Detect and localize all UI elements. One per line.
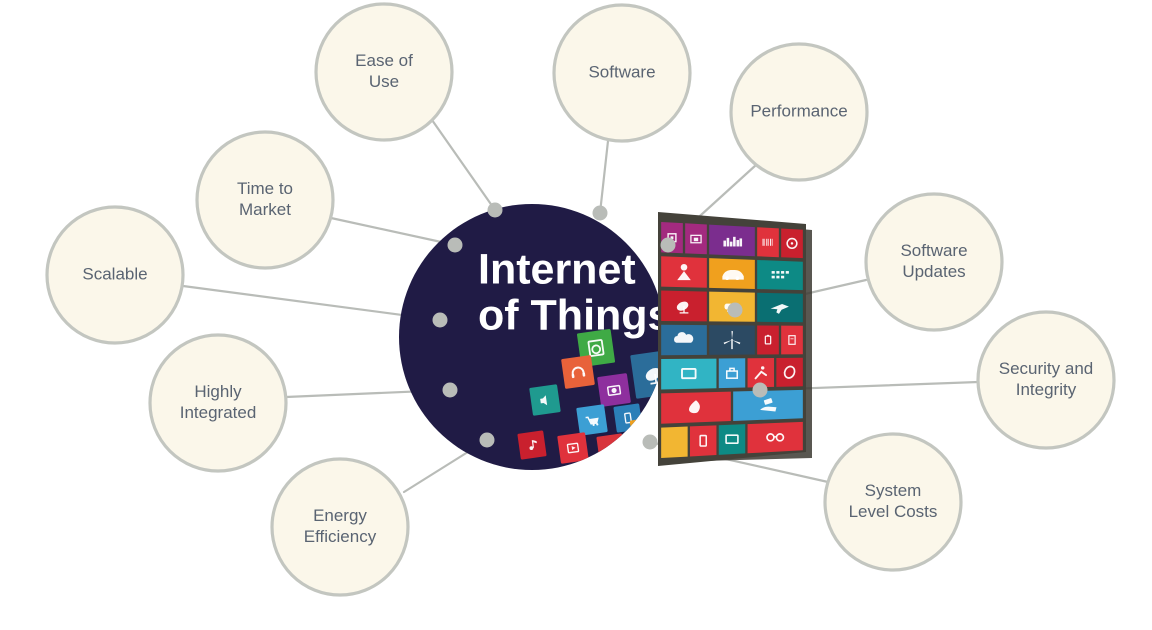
node-highly-integrated[interactable]: HighlyIntegrated [150,335,286,471]
hub-title-line-2: of Things [478,291,671,339]
tile-person [661,256,707,288]
tile-speaker [529,384,561,416]
tile-glasses [748,422,803,453]
connector-ease-of-use [432,120,495,210]
tile-blank-tile [661,427,687,459]
tile-cart [576,404,608,436]
tile-headphones [561,355,595,389]
node-software-updates-label: Software [900,241,967,260]
node-security-and-integrity-label: Integrity [1016,380,1077,399]
tile-car [709,258,755,289]
iot-mindmap-diagram: Internet of Things Ease ofUseSoftwarePer… [0,0,1152,630]
node-ease-of-use-label: Use [369,72,399,91]
tile-media-play [557,432,589,464]
connector-dot-system-level-costs [643,435,658,450]
tile-music-note [517,430,546,459]
node-software-label: Software [588,62,655,81]
node-security-and-integrity[interactable]: Security andIntegrity [978,312,1114,448]
hub-group: Internet of Things [399,204,680,470]
tile-flame [661,392,731,424]
tile-panel-group [658,212,812,466]
node-energy-efficiency-label: Energy [313,506,367,525]
tile-hand-device [733,390,803,421]
tile-tablet [613,403,642,432]
connector-dot-time-to-market [448,238,463,253]
connector-dot-software [593,206,608,221]
connector-dot-scalable [433,313,448,328]
node-software-updates[interactable]: SoftwareUpdates [866,194,1002,330]
node-system-level-costs-label: Level Costs [849,502,938,521]
node-software-updates-label: Updates [902,262,965,281]
tile-plain-red [596,433,625,462]
tile-camera [597,373,631,407]
tile-satellite-dish [661,291,707,322]
hub-title-line-1: Internet [478,245,636,293]
tile-tv [719,424,745,455]
node-security-and-integrity-label: Security and [999,359,1094,378]
tile-barcode [757,227,779,257]
tile-briefcase [719,358,745,388]
node-scalable[interactable]: Scalable [47,207,183,343]
node-software[interactable]: Software [554,5,690,141]
node-system-level-costs-label: System [865,481,922,500]
node-performance[interactable]: Performance [731,44,867,180]
connector-dot-security-and-integrity [753,383,768,398]
node-energy-efficiency[interactable]: EnergyEfficiency [272,459,408,595]
tile-wind-turbine [709,325,755,355]
connector-time-to-market [331,218,455,245]
node-system-level-costs[interactable]: SystemLevel Costs [825,434,961,570]
tile-city-skyline [709,225,755,257]
tile-cloud [661,325,707,355]
node-performance-label: Performance [750,101,847,120]
connector-dot-performance [661,238,676,253]
connector-software [600,141,608,213]
connector-dot-ease-of-use [488,203,503,218]
node-time-to-market-label: Time to [237,179,293,198]
connector-dot-software-updates [728,303,743,318]
node-highly-integrated-label: Integrated [180,403,257,422]
tile-disc [781,229,803,259]
node-time-to-market[interactable]: Time toMarket [197,132,333,268]
tile-factory [685,223,707,254]
node-scalable-label: Scalable [82,264,147,283]
tile-ring [776,358,802,387]
diagram-canvas: Internet of Things Ease ofUseSoftwarePer… [0,0,1152,630]
tile-airplane [757,293,803,322]
node-ease-of-use-label: Ease of [355,51,413,70]
tile-battery [757,325,779,354]
node-ease-of-use[interactable]: Ease ofUse [316,4,452,140]
tile-phone [690,425,716,456]
node-energy-efficiency-label: Efficiency [304,527,377,546]
node-time-to-market-label: Market [239,200,291,219]
tile-document [781,326,803,355]
node-highly-integrated-label: Highly [194,382,242,401]
tile-network-map [757,260,803,290]
connector-dot-highly-integrated [443,383,458,398]
connector-dot-energy-efficiency [480,433,495,448]
tile-display [661,359,716,390]
